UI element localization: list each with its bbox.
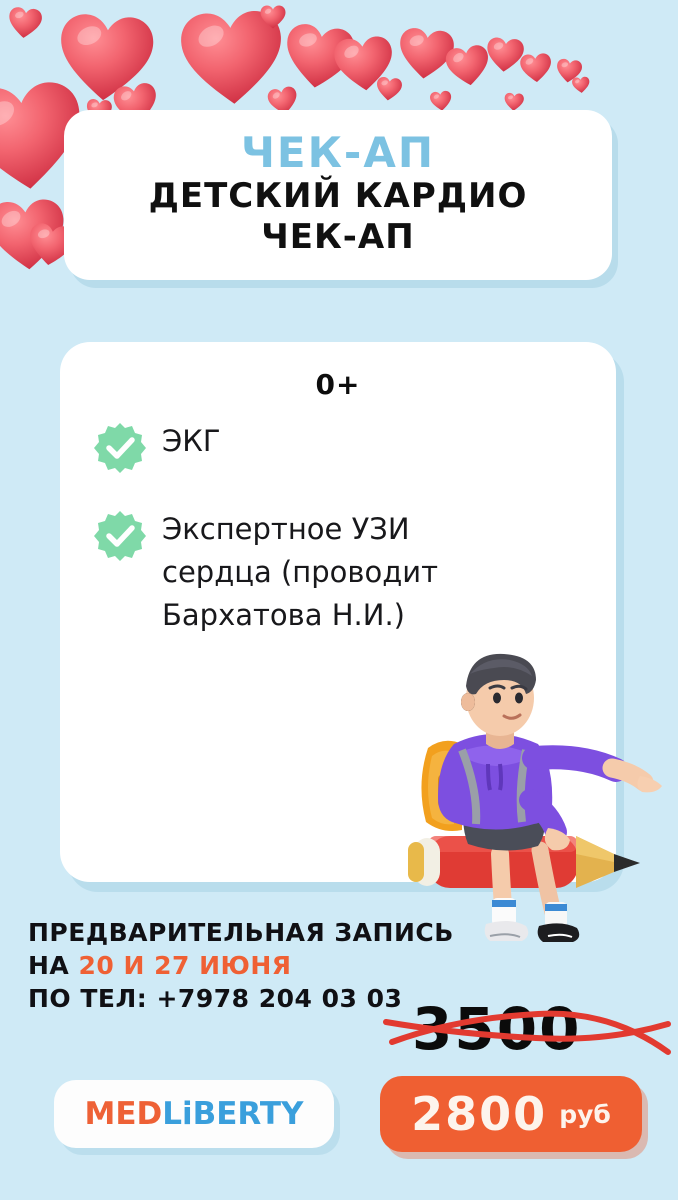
booking-info: ПРЕДВАРИТЕЛЬНАЯ ЗАПИСЬ НА 20 И 27 ИЮНЯ П…	[28, 916, 454, 1015]
logo-part-liberty: LiBERTY	[162, 1096, 303, 1132]
heart-icon	[375, 75, 404, 104]
phone-number[interactable]: +7978 204 03 03	[156, 984, 402, 1013]
header-card: ЧЕК-АП ДЕТСКИЙ КАРДИО ЧЕК-АП	[64, 110, 612, 280]
booking-line-2: НА 20 И 27 ИЮНЯ	[28, 949, 454, 982]
boy-on-pencil-illustration	[408, 640, 676, 960]
service-label: Экспертное УЗИ сердца (проводит Бархатов…	[162, 508, 492, 637]
booking-date-prefix: НА	[28, 951, 78, 980]
service-label: ЭКГ	[162, 420, 221, 463]
heart-icon	[331, 31, 396, 96]
poster-canvas: ЧЕК-АП ДЕТСКИЙ КАРДИО ЧЕК-АП 0+ ЭКГ	[0, 0, 678, 1200]
age-rating-badge: 0+	[60, 368, 616, 401]
heart-icon	[484, 34, 525, 75]
title-line-2: ЧЕК-АП	[149, 217, 528, 258]
title-line-1: ДЕТСКИЙ КАРДИО	[149, 176, 528, 217]
heart-icon	[555, 57, 584, 86]
heart-icon	[177, 3, 286, 112]
heart-icon	[260, 4, 286, 30]
page-title: ДЕТСКИЙ КАРДИО ЧЕК-АП	[149, 176, 528, 258]
heart-icon	[6, 4, 43, 41]
new-price-badge: 2800 руб	[380, 1076, 642, 1152]
header-kicker: ЧЕК-АП	[241, 132, 435, 174]
services-list: ЭКГ Экспертное УЗИ сердца (проводит Барх…	[94, 420, 586, 671]
new-price-value: 2800	[411, 1091, 547, 1137]
list-item: Экспертное УЗИ сердца (проводит Бархатов…	[94, 508, 586, 637]
brand-logo[interactable]: MEDLiBERTY	[54, 1080, 334, 1148]
heart-icon	[279, 17, 358, 96]
heart-icon	[395, 23, 457, 85]
booking-dates: 20 И 27 ИЮНЯ	[78, 951, 291, 980]
phone-prefix: ПО ТЕЛ:	[28, 984, 156, 1013]
heart-icon	[519, 51, 553, 85]
booking-line-1: ПРЕДВАРИТЕЛЬНАЯ ЗАПИСЬ	[28, 916, 454, 949]
green-check-badge-icon	[94, 510, 146, 562]
list-item: ЭКГ	[94, 420, 586, 474]
booking-line-3: ПО ТЕЛ: +7978 204 03 03	[28, 982, 454, 1015]
heart-icon	[571, 75, 591, 95]
heart-icon	[443, 41, 493, 91]
currency-label: руб	[559, 1100, 611, 1129]
green-check-badge-icon	[94, 422, 146, 474]
heart-icon	[55, 7, 157, 109]
logo-part-med: MED	[84, 1096, 162, 1132]
heart-icon	[0, 193, 69, 276]
old-price: 3500	[412, 1000, 581, 1058]
logo-text: MEDLiBERTY	[84, 1096, 303, 1132]
